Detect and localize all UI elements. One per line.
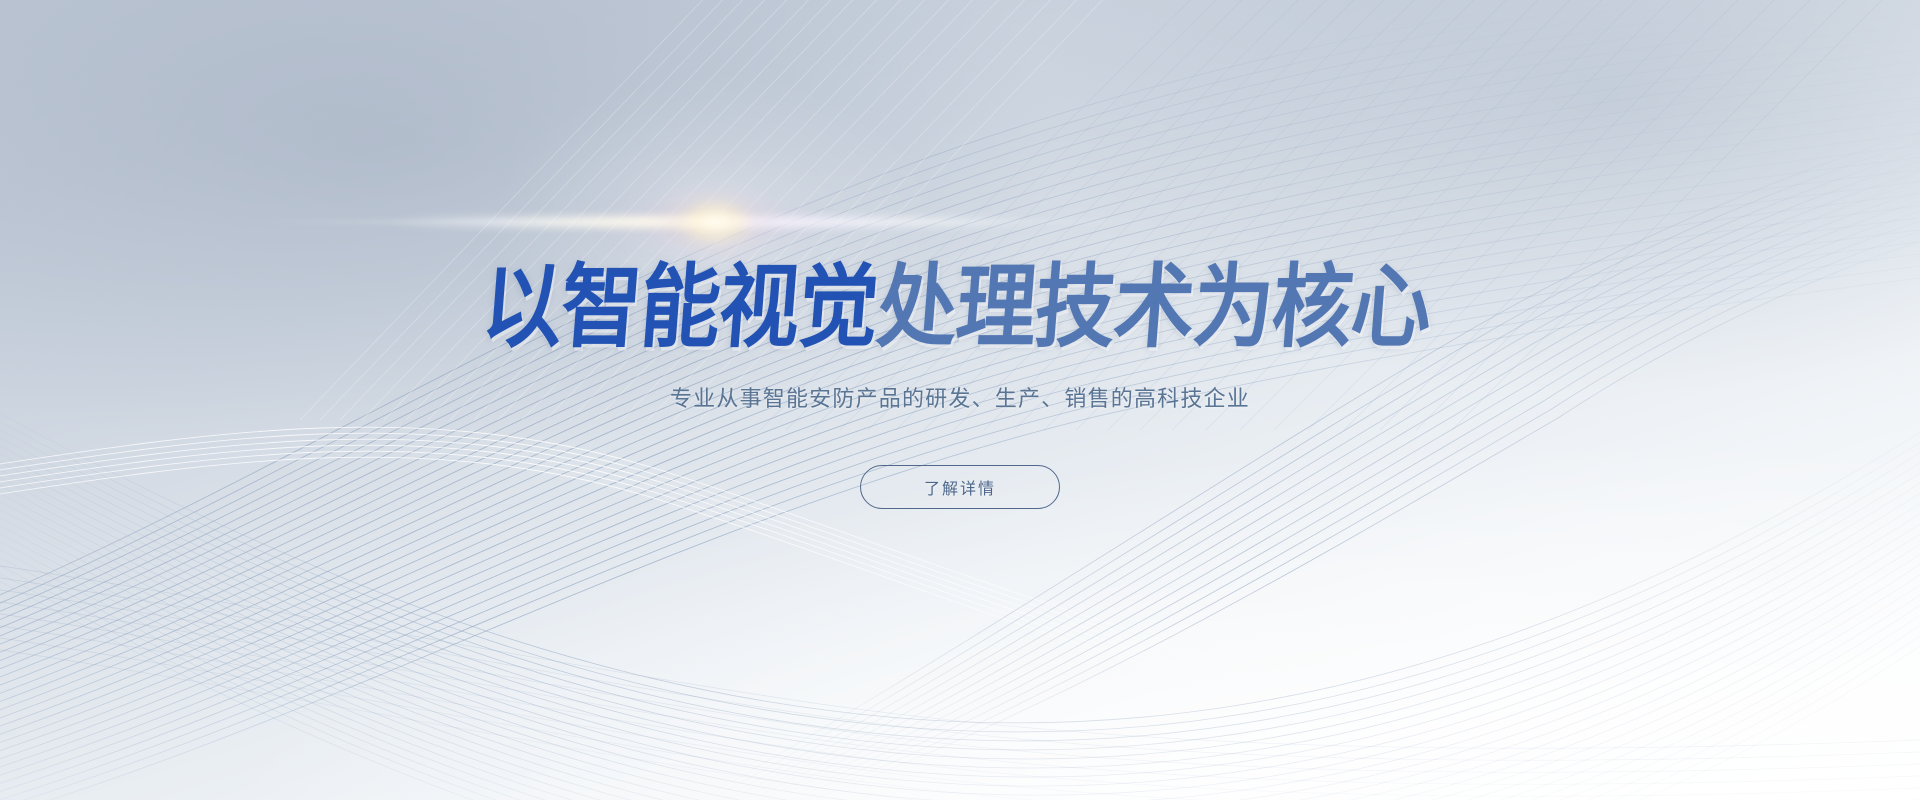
hero-banner: 以智能视觉处理技术为核心 专业从事智能安防产品的研发、生产、销售的高科技企业 了… <box>0 0 1920 800</box>
hero-subtitle: 专业从事智能安防产品的研发、生产、销售的高科技企业 <box>670 382 1250 415</box>
headline-secondary: 处理技术为核心 <box>873 254 1434 360</box>
hero-content: 以智能视觉处理技术为核心 专业从事智能安防产品的研发、生产、销售的高科技企业 了… <box>0 0 1920 800</box>
hero-headline: 以智能视觉处理技术为核心 <box>479 262 1434 353</box>
learn-more-button[interactable]: 了解详情 <box>860 465 1060 509</box>
headline-primary: 以智能视觉 <box>478 254 881 360</box>
